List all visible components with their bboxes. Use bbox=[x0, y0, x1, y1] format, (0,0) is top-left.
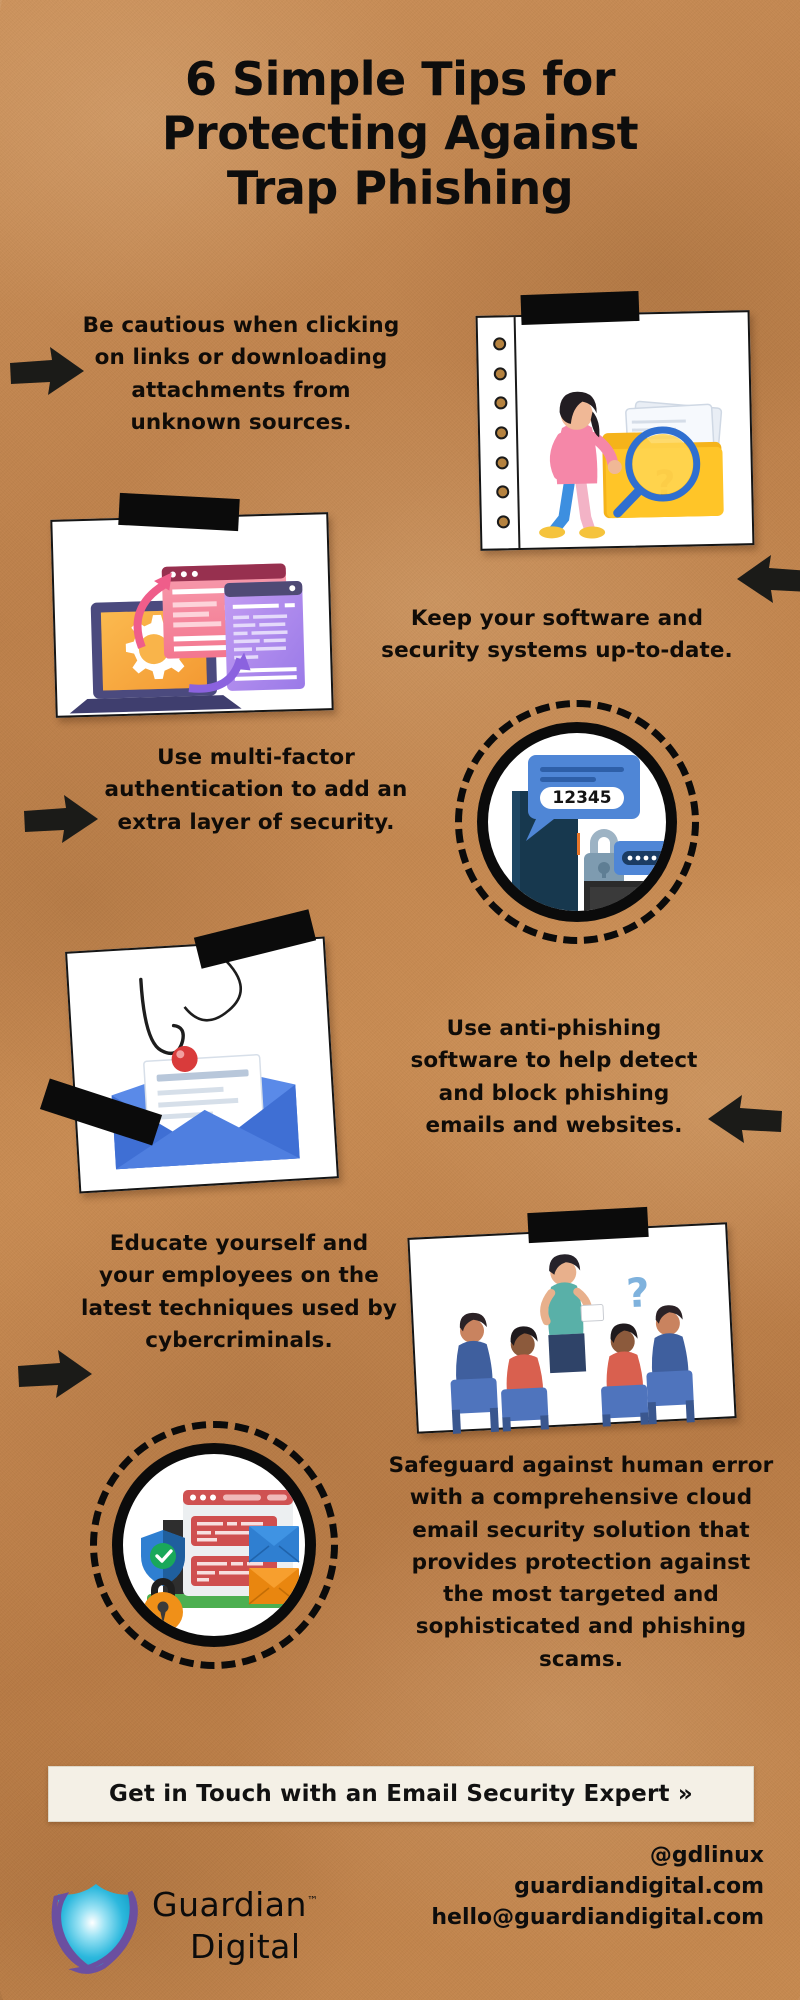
arrow-left-tip-4 bbox=[706, 1093, 784, 1147]
title-line-3: Trap Phishing bbox=[0, 161, 800, 215]
tape-card-2 bbox=[118, 493, 240, 531]
logo-line-2: Digital bbox=[152, 1926, 318, 1968]
infographic-page: 6 Simple Tips for Protecting Against Tra… bbox=[0, 0, 800, 2000]
software-update-laptop-illustration bbox=[52, 514, 335, 720]
footer-website[interactable]: guardiandigital.com bbox=[334, 1871, 764, 1902]
svg-text:?: ? bbox=[625, 1270, 650, 1317]
tip-2-software-updates-text: Keep your software and security systems … bbox=[372, 603, 742, 668]
tape-card-1 bbox=[521, 291, 640, 325]
phishing-hook-email-card bbox=[65, 937, 339, 1194]
title-line-1: 6 Simple Tips for bbox=[0, 52, 800, 106]
cta-get-in-touch-button[interactable]: Get in Touch with an Email Security Expe… bbox=[48, 1766, 754, 1822]
otp-illustration-circle: 12345 bbox=[477, 722, 677, 922]
arrow-left-tip-2 bbox=[735, 553, 800, 607]
phishing-file-search-card: ? bbox=[476, 310, 755, 551]
logo-wordmark: Guardian™ Digital bbox=[152, 1884, 318, 1967]
software-update-laptop-card bbox=[50, 512, 333, 718]
email-security-illustration-circle bbox=[112, 1443, 316, 1647]
logo-trademark: ™ bbox=[307, 1894, 319, 1907]
page-title: 6 Simple Tips for Protecting Against Tra… bbox=[0, 52, 800, 215]
security-training-meeting-illustration: ? bbox=[409, 1224, 738, 1435]
title-line-2: Protecting Against bbox=[0, 106, 800, 160]
footer-email[interactable]: hello@guardiandigital.com bbox=[334, 1902, 764, 1933]
otp-two-factor-authentication-illustration: 12345 bbox=[488, 733, 666, 911]
tip-3-multi-factor-auth-text: Use multi-factor authentication to add a… bbox=[100, 742, 412, 839]
footer-contact-block: @gdlinux guardiandigital.com hello@guard… bbox=[334, 1840, 764, 1934]
tip-6-cloud-email-security-text: Safeguard against human error with a com… bbox=[388, 1450, 774, 1676]
logo-line-1: Guardian bbox=[152, 1885, 307, 1924]
email-security-shield-badge bbox=[90, 1421, 338, 1669]
phishing-file-search-illustration: ? bbox=[478, 312, 757, 553]
shield-icon bbox=[44, 1878, 148, 1976]
guardian-digital-logo[interactable]: Guardian™ Digital bbox=[44, 1878, 344, 1978]
otp-code-text: 12345 bbox=[552, 788, 611, 808]
footer-social-handle[interactable]: @gdlinux bbox=[334, 1840, 764, 1871]
otp-two-factor-authentication-badge: 12345 bbox=[455, 700, 699, 944]
tip-5-educate-employees-text: Educate yourself and your employees on t… bbox=[80, 1228, 398, 1357]
tape-card-4 bbox=[527, 1207, 648, 1243]
email-security-shield-illustration bbox=[123, 1454, 305, 1636]
tip-4-anti-phishing-software-text: Use anti-phishing software to help detec… bbox=[396, 1013, 712, 1142]
tip-1-cautious-clicking-text: Be cautious when clicking on links or do… bbox=[76, 310, 406, 439]
security-training-meeting-card: ? bbox=[407, 1222, 736, 1433]
arrow-right-tip-1 bbox=[8, 345, 86, 399]
phishing-hook-email-illustration bbox=[67, 938, 341, 1195]
arrow-right-tip-3 bbox=[22, 793, 100, 847]
cta-label: Get in Touch with an Email Security Expe… bbox=[109, 1781, 693, 1807]
